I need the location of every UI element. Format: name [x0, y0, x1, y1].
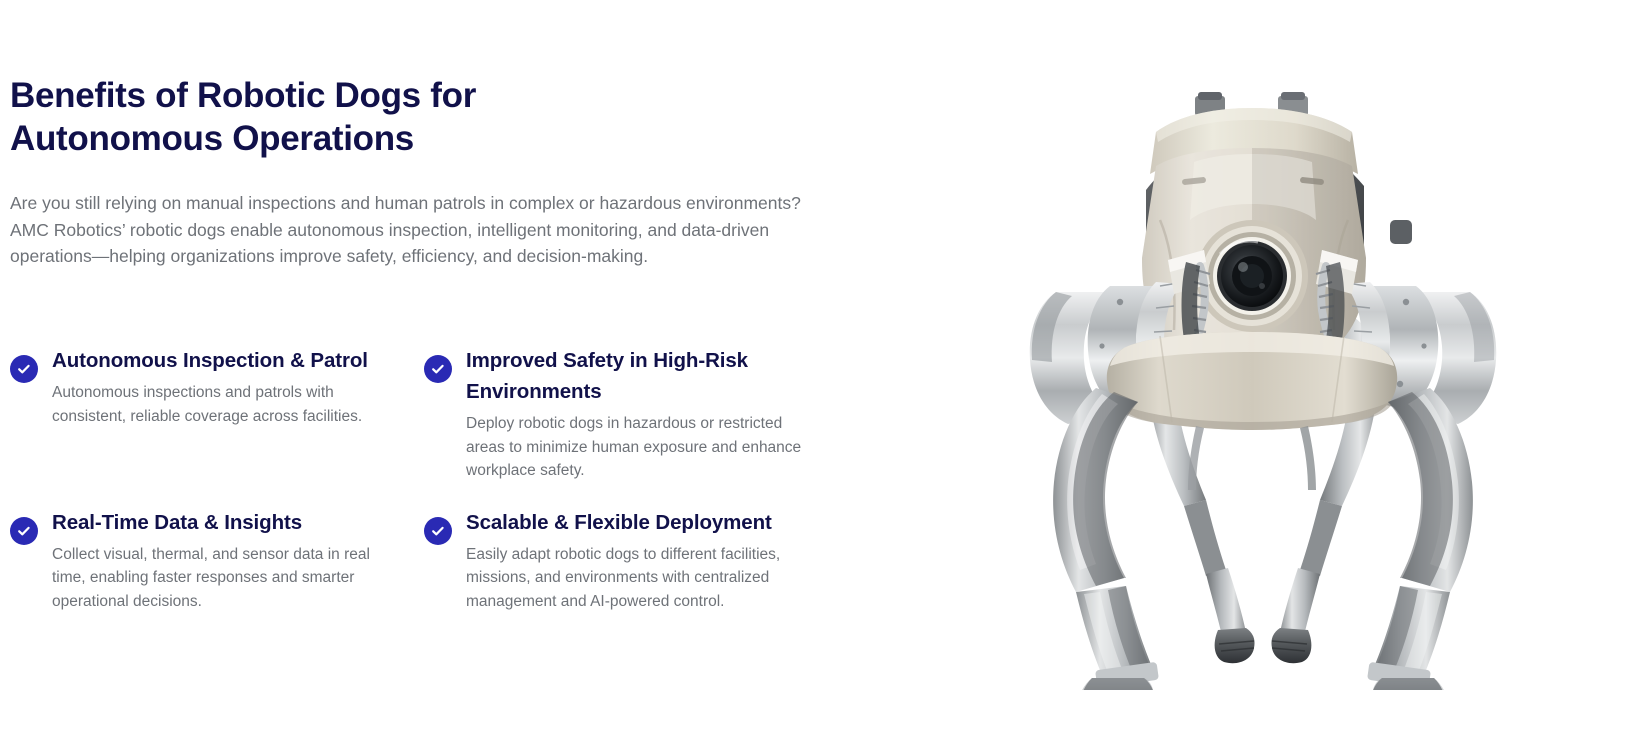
- benefit-title: Improved Safety in High-Risk Environment…: [466, 345, 826, 407]
- page-title-line-2: Autonomous Operations: [10, 119, 414, 158]
- benefit-description: Collect visual, thermal, and sensor data…: [52, 543, 382, 614]
- benefit-item-real-time-data-insights: Real-Time Data & Insights Collect visual…: [10, 507, 424, 614]
- benefit-body: Improved Safety in High-Risk Environment…: [466, 345, 838, 483]
- page-title-line-1: Benefits of Robotic Dogs for: [10, 76, 476, 115]
- intro-paragraph-1: Are you still relying on manual inspecti…: [10, 190, 810, 217]
- benefit-item-scalable-flexible-deployment: Scalable & Flexible Deployment Easily ad…: [424, 507, 838, 614]
- benefit-body: Scalable & Flexible Deployment Easily ad…: [466, 507, 838, 614]
- benefits-grid: Autonomous Inspection & Patrol Autonomou…: [10, 345, 870, 613]
- check-circle-icon: [10, 355, 38, 383]
- benefit-body: Autonomous Inspection & Patrol Autonomou…: [52, 345, 424, 428]
- benefit-item-autonomous-inspection-patrol: Autonomous Inspection & Patrol Autonomou…: [10, 345, 424, 483]
- benefit-body: Real-Time Data & Insights Collect visual…: [52, 507, 424, 614]
- page-title: Benefits of Robotic Dogs for Autonomous …: [10, 74, 530, 160]
- check-circle-icon: [424, 355, 452, 383]
- benefits-section: Benefits of Robotic Dogs for Autonomous …: [0, 0, 1635, 740]
- intro-paragraphs: Are you still relying on manual inspecti…: [10, 190, 810, 270]
- content-column: Benefits of Robotic Dogs for Autonomous …: [10, 0, 890, 740]
- benefit-title: Real-Time Data & Insights: [52, 507, 424, 538]
- robot-dog-image: [960, 70, 1560, 690]
- benefit-title: Autonomous Inspection & Patrol: [52, 345, 424, 376]
- benefit-description: Autonomous inspections and patrols with …: [52, 381, 382, 428]
- check-circle-icon: [10, 517, 38, 545]
- benefit-item-improved-safety-high-risk: Improved Safety in High-Risk Environment…: [424, 345, 838, 483]
- benefit-description: Easily adapt robotic dogs to different f…: [466, 543, 818, 614]
- benefit-title: Scalable & Flexible Deployment: [466, 507, 826, 538]
- intro-paragraph-2: AMC Robotics’ robotic dogs enable autono…: [10, 217, 810, 270]
- benefit-description: Deploy robotic dogs in hazardous or rest…: [466, 412, 818, 483]
- check-circle-icon: [424, 517, 452, 545]
